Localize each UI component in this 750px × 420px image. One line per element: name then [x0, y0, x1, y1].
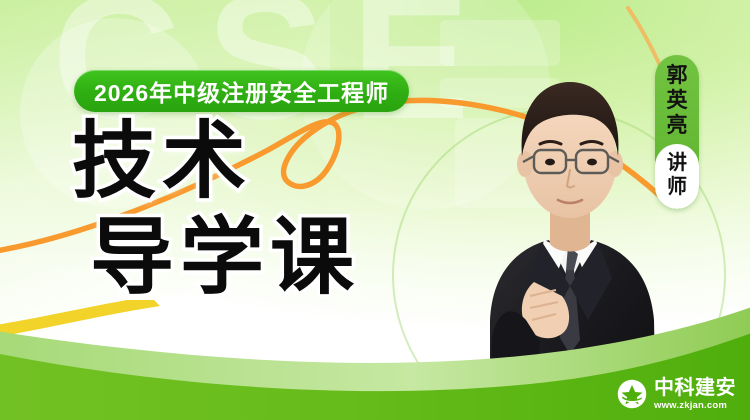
star-circle-icon	[617, 379, 647, 409]
logo-text-block: 中科建安 www.zkjan.com	[654, 378, 736, 411]
instructor-name-badge: 郭 英 亮 讲 师	[655, 55, 699, 209]
instructor-role-char: 师	[667, 176, 687, 200]
logo-company-name: 中科建安	[654, 378, 736, 398]
brand-logo[interactable]: 中科建安 www.zkjan.com	[617, 378, 736, 411]
instructor-role-chip: 讲 师	[655, 144, 699, 209]
instructor-name-char: 英	[667, 89, 688, 114]
badge-label: 2026年中级注册安全工程师	[94, 74, 389, 108]
title-line-primary: 技术	[72, 122, 360, 202]
instructor-name: 郭 英 亮	[667, 55, 688, 144]
course-subtitle-badge: 2026年中级注册安全工程师	[74, 70, 409, 112]
instructor-name-char: 亮	[667, 114, 688, 139]
title-line-secondary: 导学课	[90, 218, 360, 298]
course-poster: CSE 2026年中级注册安全工程师 技术 导学课	[0, 0, 750, 420]
page-title: 技术 导学课	[72, 122, 360, 298]
instructor-photo	[430, 20, 680, 420]
instructor-name-char: 郭	[667, 64, 688, 89]
instructor-role-char: 讲	[667, 152, 687, 176]
logo-website-url: www.zkjan.com	[654, 401, 736, 411]
